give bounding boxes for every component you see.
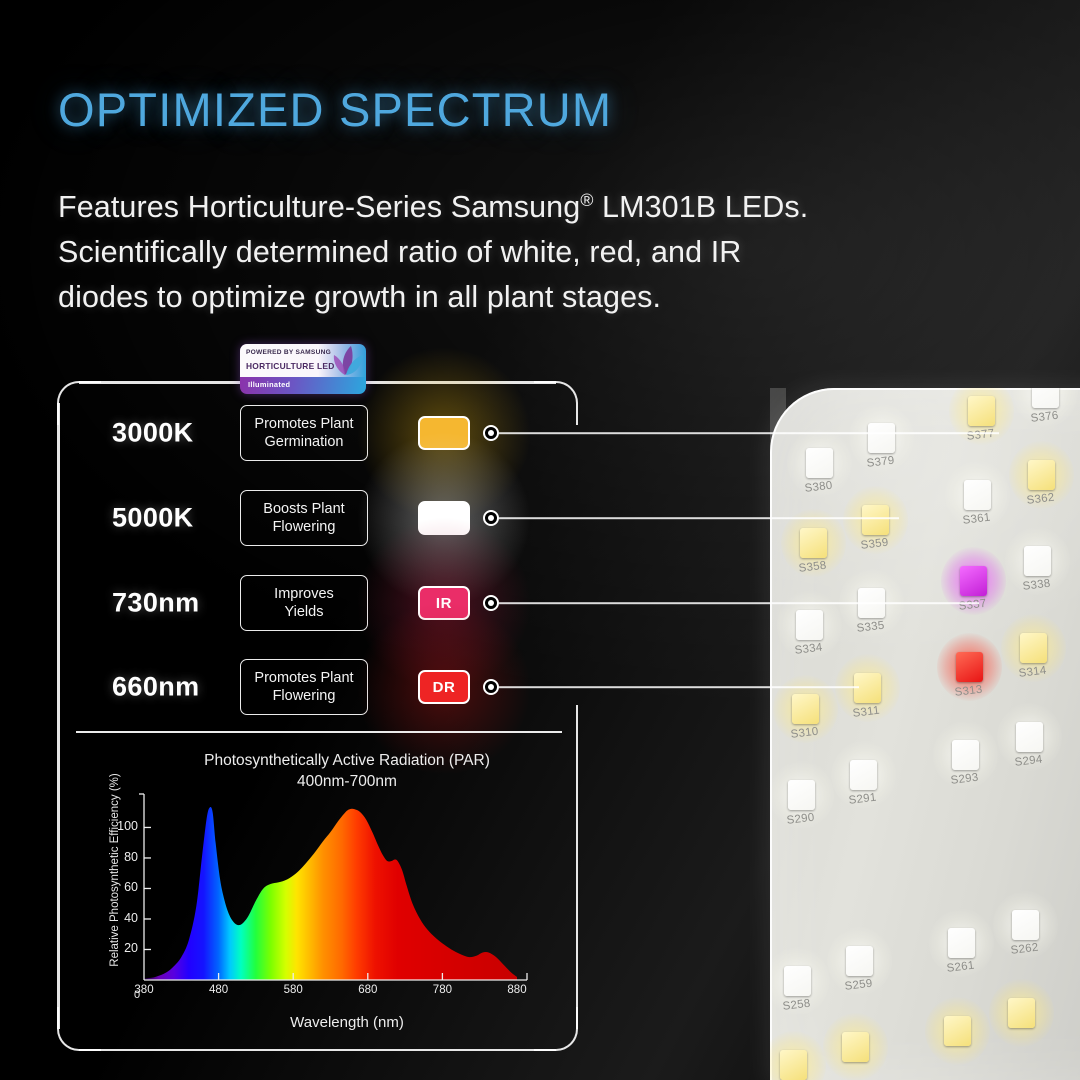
benefit-line-1: Promotes Plant — [245, 415, 363, 433]
led-S362: S362 — [1028, 460, 1055, 490]
led-chip — [868, 423, 895, 453]
leader-bullet — [483, 425, 499, 441]
leader-line — [499, 432, 999, 434]
subtitle-line-3: diodes to optimize growth in all plant s… — [58, 275, 808, 320]
subtitle-line-1a: Features Horticulture-Series Samsung — [58, 190, 580, 224]
led-chip — [846, 946, 873, 976]
led-chip — [1012, 910, 1039, 940]
leader-line — [499, 602, 979, 604]
product-infographic: S380S379S377S376S358S359S361S362S334S335… — [0, 0, 1080, 1080]
led-chip — [956, 652, 983, 682]
led-chip — [1028, 460, 1055, 490]
led-S338: S338 — [1024, 546, 1051, 576]
spec-benefit-box: ImprovesYields — [240, 575, 368, 631]
benefit-line-1: Promotes Plant — [245, 669, 363, 687]
led-chip — [788, 780, 815, 810]
led-chip — [854, 673, 881, 703]
spec-benefit-box: Promotes PlantFlowering — [240, 659, 368, 715]
led-chip — [964, 480, 991, 510]
benefit-line-2: Germination — [245, 433, 363, 451]
frame-bottom — [79, 1049, 556, 1052]
led-chip — [792, 694, 819, 724]
led-warm — [1008, 998, 1035, 1028]
frame-right-lower — [576, 705, 579, 1029]
benefit-line-1: Improves — [245, 585, 363, 603]
led-S294: S294 — [1016, 722, 1043, 752]
leader-line — [499, 517, 899, 519]
subtitle-line-1: Features Horticulture-Series Samsung® LM… — [58, 178, 808, 230]
benefit-line-1: Boosts Plant — [245, 500, 363, 518]
badge-line-2: HORTICULTURE LED — [246, 361, 335, 371]
spectrum-area — [144, 807, 517, 980]
registered-mark: ® — [580, 190, 593, 210]
led-S311: S311 — [854, 673, 881, 703]
led-S361: S361 — [964, 480, 991, 510]
led-S314: S314 — [1020, 633, 1047, 663]
spec-benefit-box: Boosts PlantFlowering — [240, 490, 368, 546]
led-S291: S291 — [850, 760, 877, 790]
samsung-horticulture-badge: POWERED BY SAMSUNG HORTICULTURE LED Illu… — [240, 344, 366, 394]
led-S359: S359 — [862, 505, 889, 535]
led-chip — [780, 1050, 807, 1080]
led-chip — [1020, 633, 1047, 663]
led-chip — [862, 505, 889, 535]
leaf-icon — [324, 344, 364, 377]
badge-line-1: POWERED BY SAMSUNG — [246, 349, 331, 356]
led-S337: S337 — [960, 566, 987, 596]
led-S310: S310 — [792, 694, 819, 724]
subtitle-line-1b: LM301B LEDs. — [593, 190, 808, 224]
led-S376: S376 — [1032, 388, 1059, 408]
page-title: OPTIMIZED SPECTRUM — [58, 82, 612, 137]
led-chip — [800, 528, 827, 558]
page-subtitle: Features Horticulture-Series Samsung® LM… — [58, 178, 808, 320]
led-chip — [960, 566, 987, 596]
led-S313: S313 — [956, 652, 983, 682]
led-chip — [1016, 722, 1043, 752]
led-S258: S258 — [784, 966, 811, 996]
led-S334: S334 — [796, 610, 823, 640]
led-chip — [784, 966, 811, 996]
led-chip — [948, 928, 975, 958]
benefit-line-2: Flowering — [245, 518, 363, 536]
led-S261: S261 — [948, 928, 975, 958]
led-S293: S293 — [952, 740, 979, 770]
led-warm — [842, 1032, 869, 1062]
leader-bullet — [483, 510, 499, 526]
led-chip — [842, 1032, 869, 1062]
spec-value: 730nm — [112, 588, 200, 619]
par-chart: Photosynthetically Active Radiation (PAR… — [82, 742, 552, 1042]
spec-value: 3000K — [112, 418, 194, 449]
badge-tag: Illuminated — [248, 380, 290, 389]
led-chip — [1024, 546, 1051, 576]
subtitle-line-2: Scientifically determined ratio of white… — [58, 230, 808, 275]
par-spectrum-plot — [82, 742, 552, 1042]
led-chip — [968, 396, 995, 426]
led-S290: S290 — [788, 780, 815, 810]
benefit-line-2: Yields — [245, 603, 363, 621]
led-chip — [796, 610, 823, 640]
led-chip — [952, 740, 979, 770]
leader-line — [499, 686, 859, 688]
spec-emitter: DR — [418, 670, 470, 704]
spec-row-660nm: 660nmPromotes PlantFloweringDR — [0, 651, 560, 723]
led-warm — [944, 1016, 971, 1046]
led-chip — [1032, 388, 1059, 408]
section-divider — [76, 731, 562, 733]
led-warm — [780, 1050, 807, 1080]
led-S380: S380 — [806, 448, 833, 478]
led-S379: S379 — [868, 423, 895, 453]
spec-value: 660nm — [112, 672, 200, 703]
led-S259: S259 — [846, 946, 873, 976]
spec-benefit-box: Promotes PlantGermination — [240, 405, 368, 461]
spec-value: 5000K — [112, 503, 194, 534]
led-chip — [1008, 998, 1035, 1028]
emitter-swatch: DR — [418, 670, 470, 704]
led-chip — [944, 1016, 971, 1046]
leader-bullet — [483, 679, 499, 695]
led-chip — [850, 760, 877, 790]
led-S262: S262 — [1012, 910, 1039, 940]
led-chip — [806, 448, 833, 478]
led-S358: S358 — [800, 528, 827, 558]
led-board: S380S379S377S376S358S359S361S362S334S335… — [770, 388, 1080, 1080]
led-S377: S377 — [968, 396, 995, 426]
benefit-line-2: Flowering — [245, 687, 363, 705]
